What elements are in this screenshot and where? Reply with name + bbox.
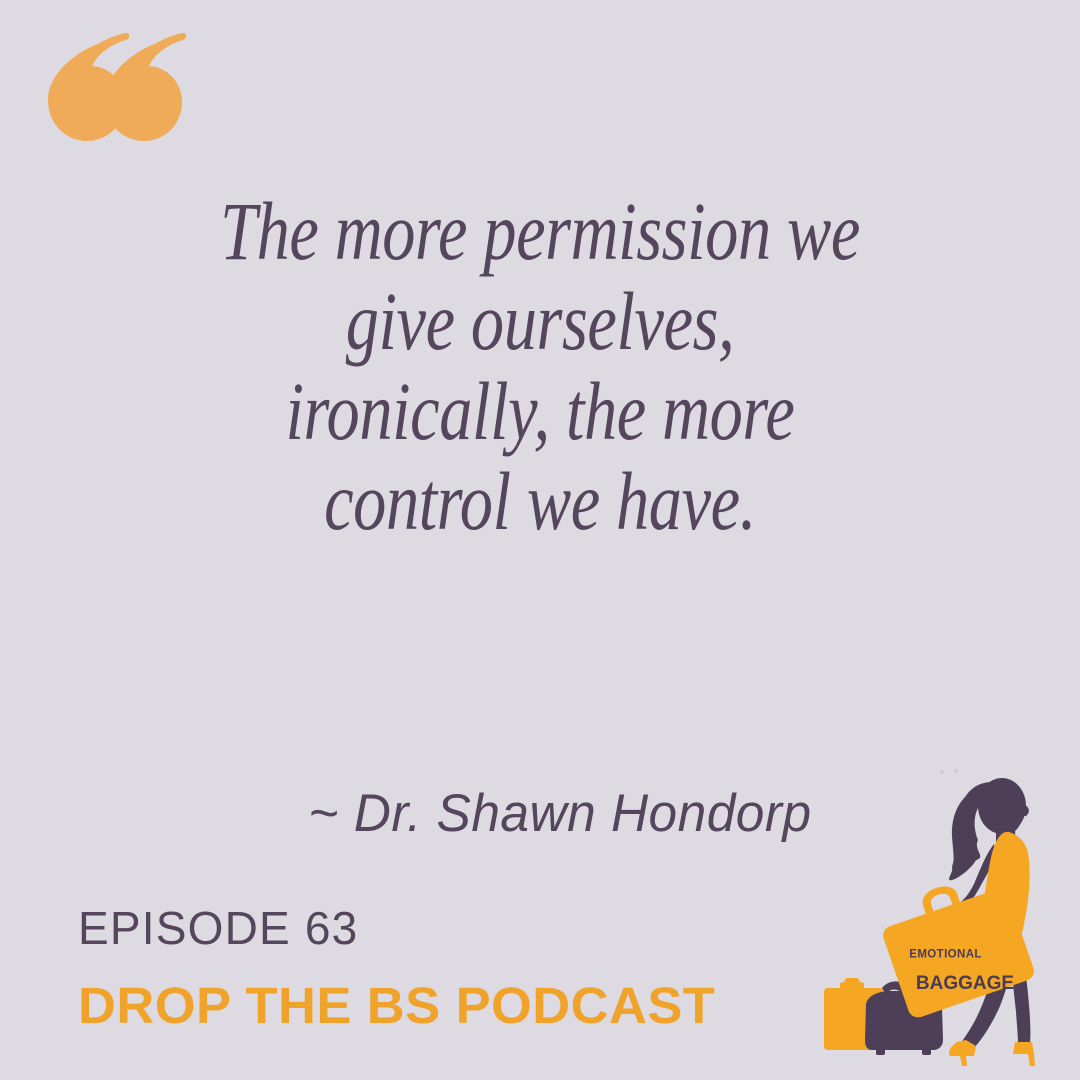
baggage-label-line1: EMOTIONAL: [909, 949, 982, 961]
decorative-dots-icon: [940, 769, 958, 774]
footer-block: EPISODE 63 DROP THE BS PODCAST: [78, 902, 697, 1034]
quote-text: The more permission we give ourselves, i…: [188, 186, 892, 546]
episode-label: EPISODE 63: [78, 902, 697, 954]
podcast-title: DROP THE BS PODCAST: [78, 978, 715, 1034]
baggage-label-line2: BAGGAGE: [916, 973, 1014, 994]
opening-quotation-mark-icon: [40, 8, 190, 148]
emotional-baggage-logo: EMOTIONAL BAGGAGE: [810, 748, 1080, 1068]
quote-card: The more permission we give ourselves, i…: [0, 0, 1080, 1080]
